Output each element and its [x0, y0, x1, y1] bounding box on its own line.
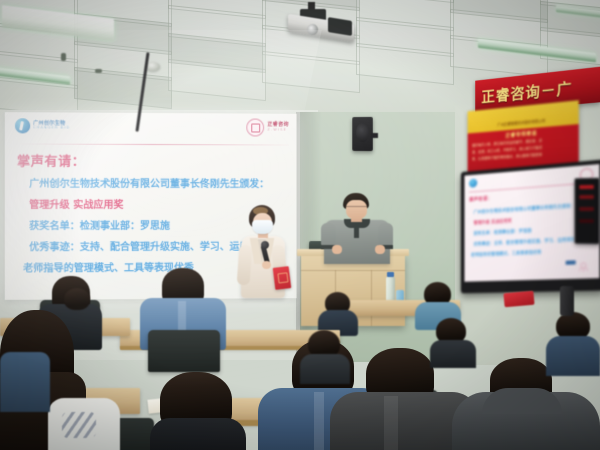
bottle-cap — [387, 272, 394, 277]
photo-scene: 广州创尔生物 CHANGER BIO 正睿咨询 Z.WISE 掌声有请： 广州创… — [0, 0, 600, 450]
chuanger-logo-icon — [15, 118, 30, 133]
display-line-1: 掌声有请： — [469, 195, 492, 203]
chair — [148, 330, 220, 372]
display-line-5: 优秀事迹：支持、配合管理升级实施、学习、运用项目 — [474, 237, 576, 248]
slide-header: 广州创尔生物 CHANGER BIO 正睿咨询 Z.WISE — [5, 112, 297, 147]
red-folder — [503, 291, 534, 308]
chuanger-logo: 广州创尔生物 CHANGER BIO — [15, 118, 70, 133]
wall-control-panel[interactable] — [574, 178, 599, 245]
award-certificate — [273, 266, 292, 290]
speaker-man-at-podium — [320, 193, 398, 263]
microphone-head-icon — [261, 241, 269, 249]
award-recipient-woman — [233, 205, 293, 320]
audience-member — [430, 318, 476, 362]
zhengrui-logo: 正睿咨询 Z.WISE — [247, 119, 289, 137]
display-mascot-icon — [577, 260, 590, 274]
audience-member — [546, 312, 600, 372]
display-line-2: 广州创尔生物技术股份有限公司董事长佟刚先生颁发： — [474, 203, 576, 216]
slide-line-1: 广州创尔生物技术股份有限公司董事长佟刚先生颁发： — [29, 175, 269, 190]
display-line-3: 管理升级 实战应用奖 — [474, 218, 512, 226]
display-logo-left-icon — [469, 178, 477, 187]
slide-line-3: 获奖名单：检测事业部：罗思施 — [29, 217, 170, 232]
slide-title: 掌声有请： — [17, 151, 85, 170]
display-line-6: 老师指导的管理模式、工具等表现优秀 — [471, 250, 542, 259]
audience-member — [150, 372, 246, 450]
wall-speaker — [352, 117, 373, 151]
zhengrui-logo-sub: Z.WISE — [267, 128, 288, 132]
display-line-4: 获奖名单：检测事业部：罗思施 — [474, 228, 532, 237]
slide-line-2: 管理升级 实战应用奖 — [29, 196, 123, 211]
zhengrui-logo-icon — [247, 119, 265, 137]
woman-hand — [262, 261, 271, 269]
face-mask-icon — [252, 220, 273, 234]
slide-header-divider — [13, 143, 289, 145]
display-port-indicator — [566, 260, 576, 264]
thermos — [560, 286, 574, 316]
speaker-bracket — [371, 133, 378, 138]
audience-sleeve-pattern — [62, 412, 96, 438]
audience-member — [318, 292, 358, 334]
audience-member — [0, 352, 50, 412]
man-left-hand — [332, 245, 342, 254]
man-right-hand — [375, 245, 385, 254]
audience-member — [300, 330, 350, 378]
chuanger-logo-sub: CHANGER BIO — [33, 127, 70, 131]
